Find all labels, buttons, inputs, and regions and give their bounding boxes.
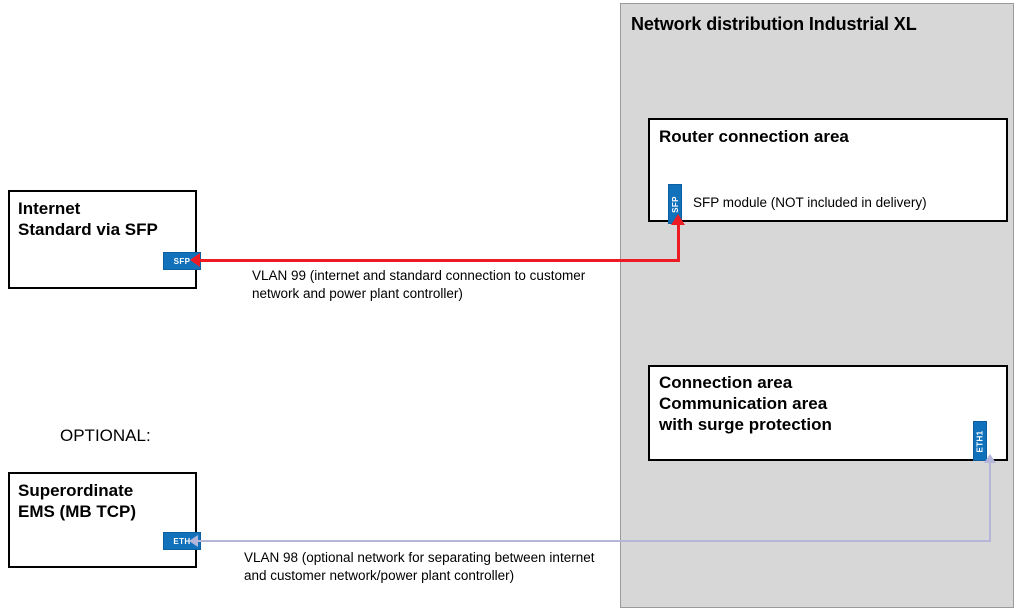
vlan99-caption: VLAN 99 (internet and standard connectio…: [252, 267, 622, 303]
sfp-module-caption: SFP module (NOT included in delivery): [693, 195, 927, 210]
connection-communication-area-box: Connection area Communication area with …: [648, 365, 1008, 461]
vlan98-caption: VLAN 98 (optional network for separating…: [244, 549, 624, 585]
vlan98-horizontal-line: [196, 540, 991, 542]
vlan98-vertical-line: [989, 462, 991, 541]
internet-sfp-port-label: SFP: [174, 257, 191, 266]
panel-title: Network distribution Industrial XL: [631, 14, 917, 35]
diagram-canvas: Network distribution Industrial XL Route…: [0, 0, 1018, 611]
router-connection-area-title: Router connection area: [659, 126, 849, 147]
superordinate-ems-box: Superordinate EMS (MB TCP): [8, 472, 197, 568]
superordinate-ems-title: Superordinate EMS (MB TCP): [18, 480, 136, 522]
vlan98-arrowhead-left-icon: [189, 535, 198, 547]
internet-box-title: Internet Standard via SFP: [18, 198, 158, 240]
router-sfp-port-label: SFP: [671, 196, 680, 213]
vlan99-horizontal-line: [198, 259, 680, 262]
vlan99-arrowhead-up-icon: [671, 214, 685, 225]
internet-box: Internet Standard via SFP: [8, 190, 197, 289]
vlan99-vertical-line: [677, 224, 680, 261]
ems-eth-port-label: ETH: [173, 537, 190, 546]
vlan99-arrowhead-left-icon: [190, 253, 200, 267]
connection-area-eth1-port-label: ETH1: [976, 430, 985, 452]
vlan98-arrowhead-up-icon: [984, 454, 996, 463]
network-distribution-panel: Network distribution Industrial XL: [620, 3, 1014, 608]
connection-communication-area-title: Connection area Communication area with …: [659, 372, 832, 435]
optional-label: OPTIONAL:: [60, 426, 151, 446]
